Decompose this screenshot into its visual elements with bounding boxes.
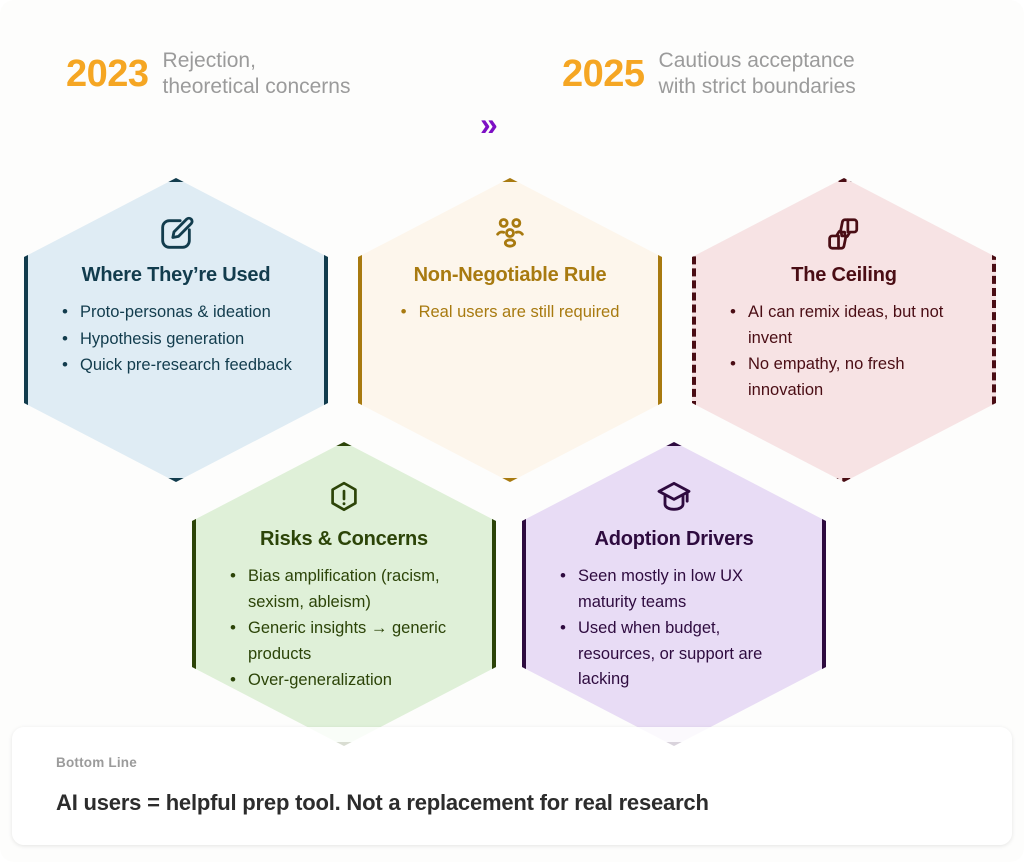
users-group-icon	[490, 212, 530, 256]
list-item: Generic insights → generic products	[230, 616, 470, 667]
bottom-line-banner: Bottom Line AI users = helpful prep tool…	[12, 727, 1012, 845]
list-item: Bias amplification (racism, sexism, able…	[230, 564, 470, 615]
timeline-desc-2025: Cautious acceptance with strict boundari…	[659, 48, 856, 99]
timeline-desc-2023-line1: Rejection,	[163, 48, 351, 74]
pencil-square-icon	[156, 212, 196, 256]
hex-card-non-negotiable-rule[interactable]: Non-Negotiable Rule Real users are still…	[358, 178, 662, 482]
timeline-year-2025: 2025	[562, 55, 645, 93]
list-item: Seen mostly in low UX maturity teams	[560, 564, 800, 615]
hex-card-the-ceiling[interactable]: The Ceiling AI can remix ideas, but not …	[692, 178, 996, 482]
timeline-desc-2023: Rejection, theoretical concerns	[163, 48, 351, 99]
infographic-canvas: 2023 Rejection, theoretical concerns » 2…	[0, 0, 1024, 862]
hex-title-adopt: Adoption Drivers	[594, 528, 753, 551]
hex-list-adopt: Seen mostly in low UX maturity teams Use…	[548, 564, 800, 694]
timeline-header: 2023 Rejection, theoretical concerns » 2…	[0, 46, 1024, 116]
thumbs-up-down-icon	[823, 212, 865, 256]
list-item: Used when budget, resources, or support …	[560, 616, 800, 693]
timeline-item-2025: 2025 Cautious acceptance with strict bou…	[562, 48, 856, 99]
list-item: Hypothesis generation	[62, 327, 302, 353]
hex-card-risks-and-concerns[interactable]: Risks & Concerns Bias amplification (rac…	[192, 442, 496, 746]
timeline-item-2023: 2023 Rejection, theoretical concerns	[66, 48, 350, 99]
timeline-desc-2025-line2: with strict boundaries	[659, 74, 856, 100]
timeline-year-2023: 2023	[66, 55, 149, 93]
hex-title-ceiling: The Ceiling	[791, 264, 897, 287]
hex-list-where: Proto-personas & ideation Hypothesis gen…	[50, 300, 302, 380]
hex-list-risks: Bias amplification (racism, sexism, able…	[218, 564, 470, 695]
bottom-line-text: AI users = helpful prep tool. Not a repl…	[56, 790, 968, 816]
graduation-cap-icon	[654, 476, 694, 520]
hex-title-risks: Risks & Concerns	[260, 528, 428, 551]
timeline-desc-2023-line2: theoretical concerns	[163, 74, 351, 100]
list-item: Proto-personas & ideation	[62, 300, 302, 326]
list-item: AI can remix ideas, but not invent	[730, 300, 970, 351]
hex-card-where-theyre-used[interactable]: Where They’re Used Proto-personas & idea…	[24, 178, 328, 482]
alert-hexagon-icon	[325, 476, 363, 520]
hex-title-rule: Non-Negotiable Rule	[414, 264, 607, 287]
hex-list-rule: Real users are still required	[401, 300, 620, 327]
bottom-line-label: Bottom Line	[56, 755, 968, 770]
list-item: No empathy, no fresh innovation	[730, 352, 970, 403]
list-item: Quick pre-research feedback	[62, 353, 302, 379]
chevron-double-right-icon: »	[480, 108, 498, 140]
list-item: Real users are still required	[401, 300, 620, 326]
timeline-desc-2025-line1: Cautious acceptance	[659, 48, 856, 74]
hex-title-where: Where They’re Used	[82, 264, 271, 287]
hex-card-adoption-drivers[interactable]: Adoption Drivers Seen mostly in low UX m…	[522, 442, 826, 746]
list-item: Over-generalization	[230, 668, 470, 694]
hex-list-ceiling: AI can remix ideas, but not invent No em…	[718, 300, 970, 404]
